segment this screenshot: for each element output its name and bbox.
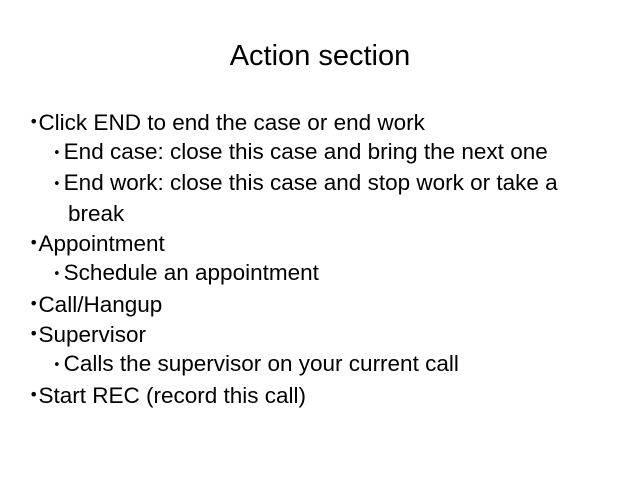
bullet-icon: •	[53, 358, 61, 373]
list-item: •Supervisor	[29, 319, 613, 349]
list-item: •Start REC (record this call)	[29, 380, 613, 410]
list-item-label: Calls the supervisor on your current cal…	[64, 351, 459, 376]
list-item: •Schedule an appointment	[29, 258, 613, 289]
bullet-icon: •	[53, 177, 61, 192]
slide: Action section •Click END to end the cas…	[0, 0, 640, 480]
list-item-label: Appointment	[38, 231, 164, 256]
list-item: •Appointment	[29, 228, 613, 258]
bullet-icon: •	[53, 267, 61, 282]
list-item: •Click END to end the case or end work	[29, 107, 613, 137]
list-item: •End work: close this case and stop work…	[29, 168, 613, 228]
page-title: Action section	[0, 38, 640, 74]
bullet-icon: •	[53, 146, 61, 161]
list-item-label: Start REC (record this call)	[38, 383, 306, 408]
bullet-list: •Click END to end the case or end work •…	[29, 107, 613, 410]
list-item: •Calls the supervisor on your current ca…	[29, 349, 613, 380]
list-item-label: Call/Hangup	[38, 292, 162, 317]
list-item-label: End case: close this case and bring the …	[64, 139, 548, 164]
list-item-label: End work: close this case and stop work …	[64, 170, 558, 226]
list-item-label: Click END to end the case or end work	[38, 110, 424, 135]
list-item: •End case: close this case and bring the…	[29, 137, 613, 168]
list-item: •Call/Hangup	[29, 289, 613, 319]
list-item-label: Schedule an appointment	[64, 260, 319, 285]
list-item-label: Supervisor	[38, 322, 146, 347]
